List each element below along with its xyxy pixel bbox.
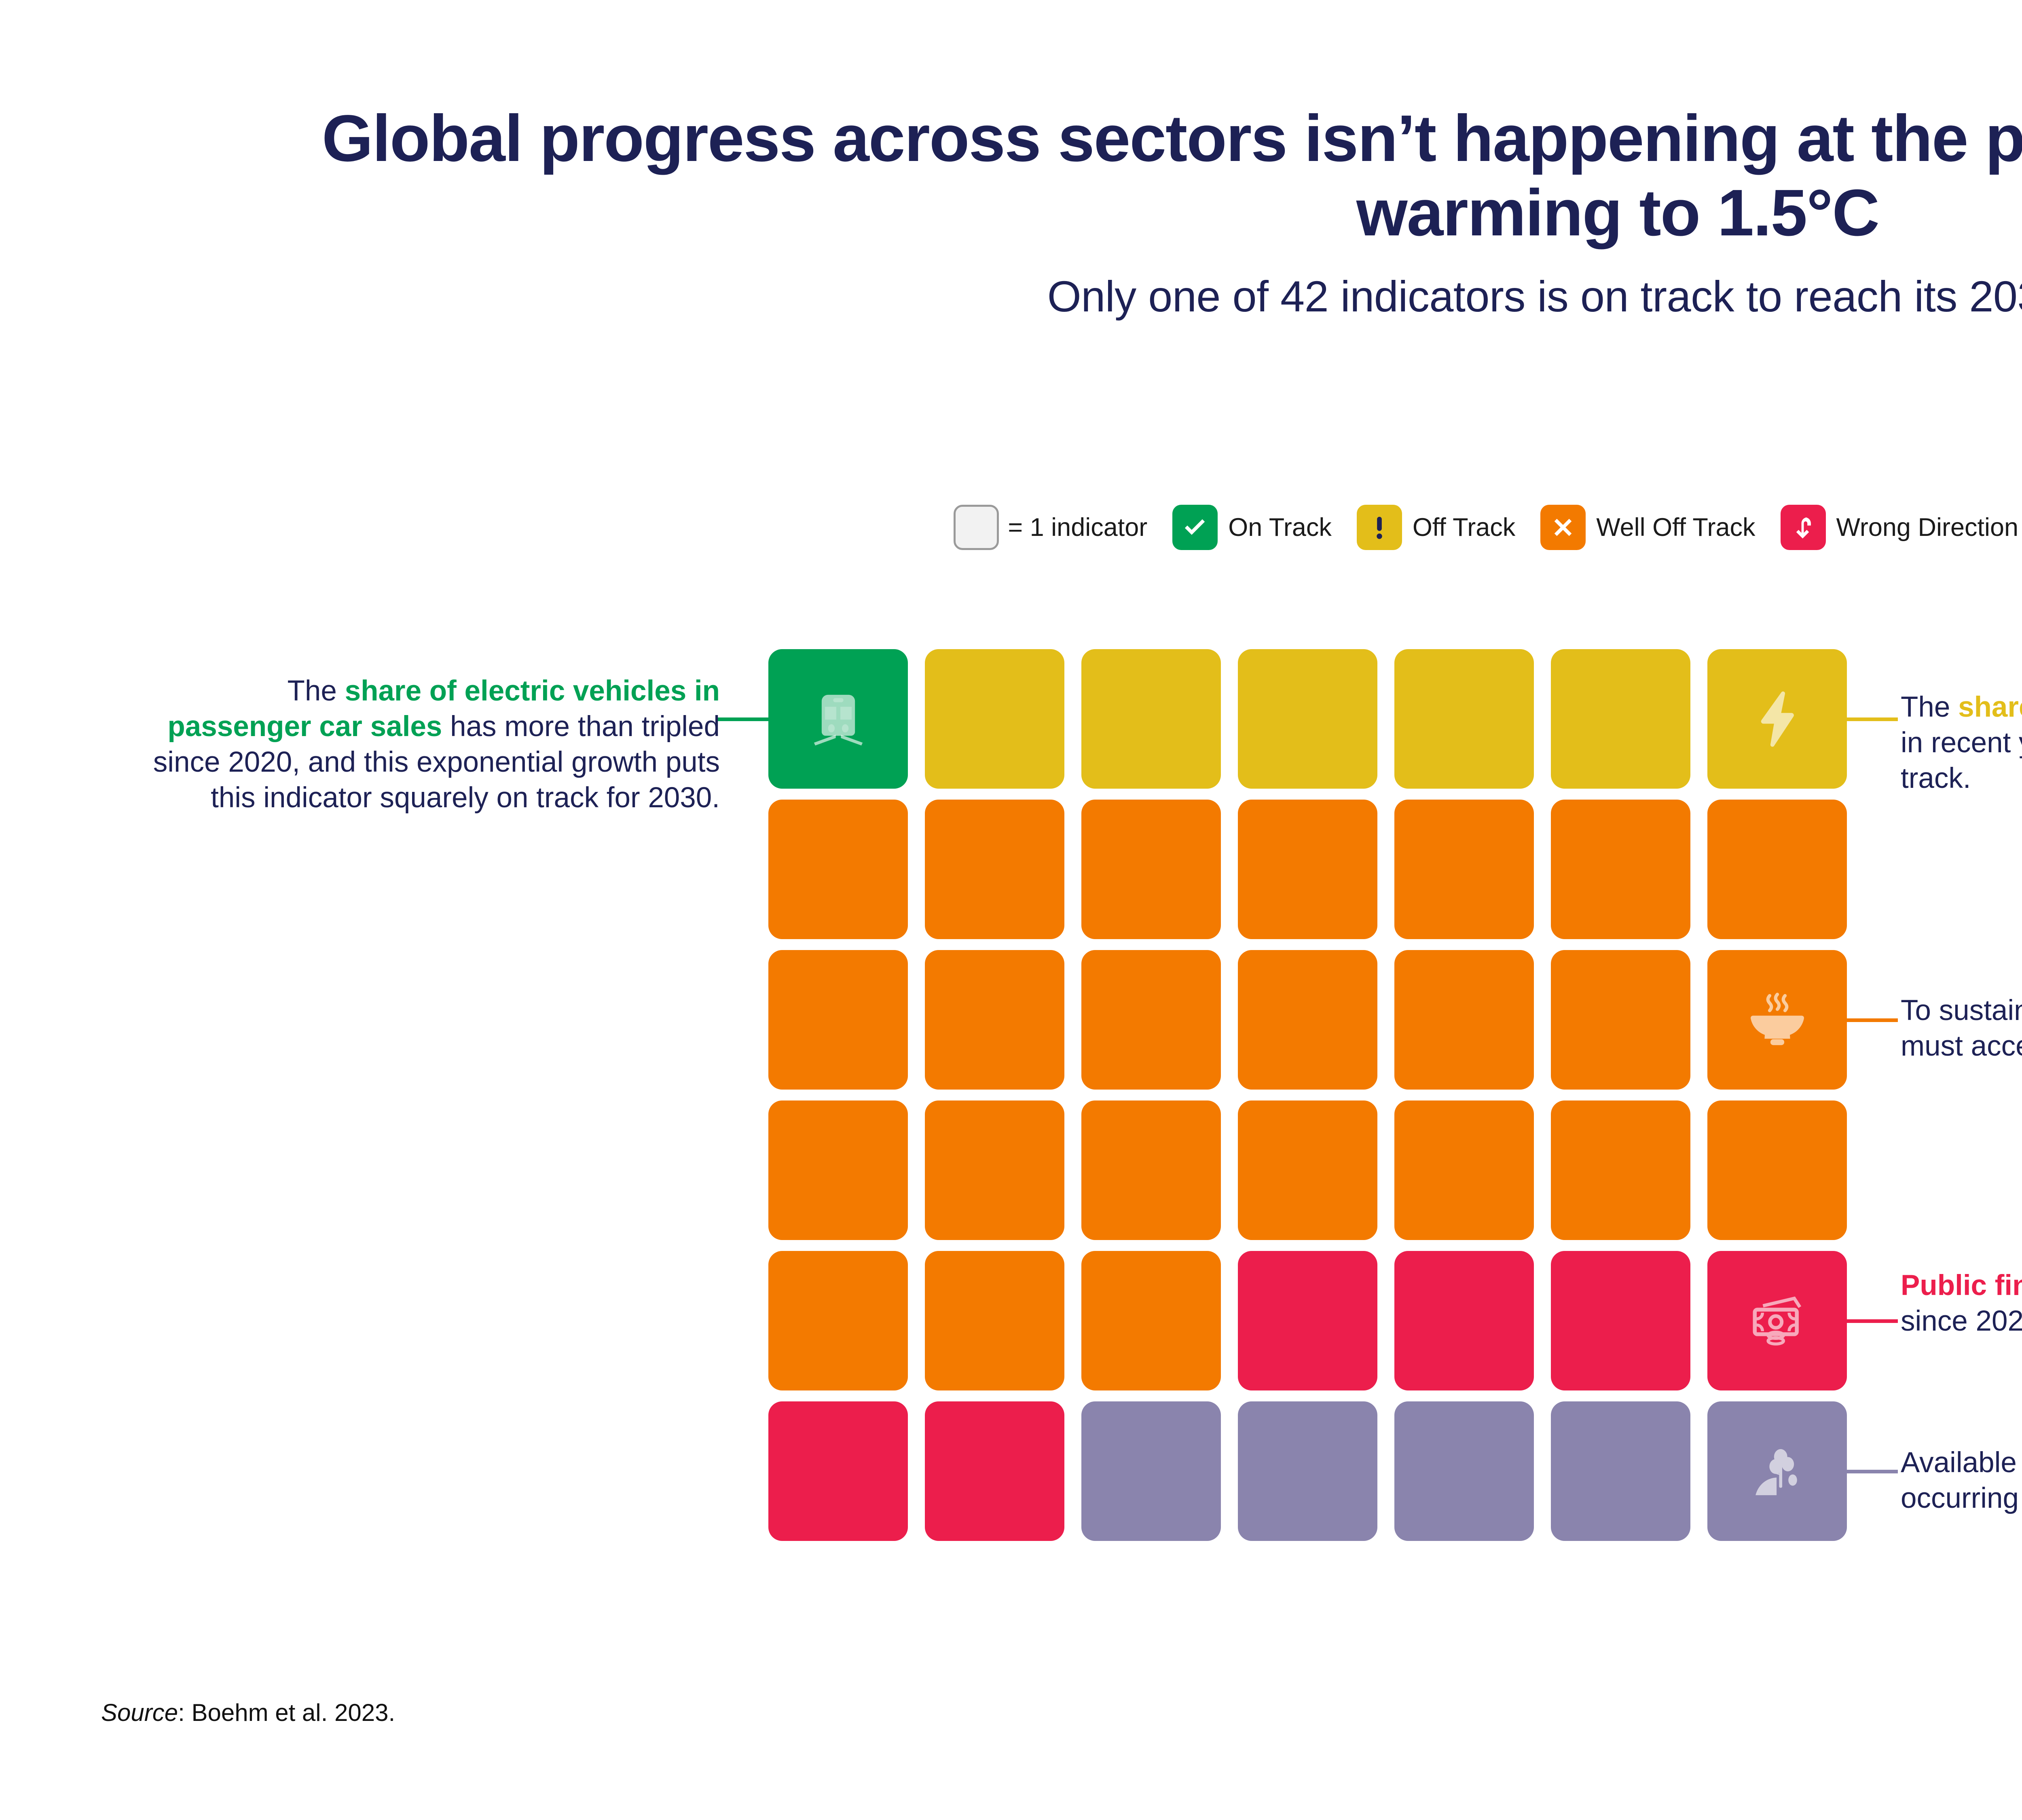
indicator-cell-well-off-track[interactable] [1081, 1100, 1221, 1240]
indicator-cell-insufficient-data[interactable] [1081, 1401, 1221, 1541]
connector-line [1847, 1319, 1898, 1323]
indicator-cell-train[interactable] [768, 649, 908, 789]
indicator-cell-well-off-track[interactable] [1707, 800, 1847, 939]
grid-row [768, 1251, 1852, 1390]
indicator-cell-well-off-track[interactable] [1238, 950, 1377, 1090]
annotation-crop-yields: To sustainably feed a growing population… [1901, 993, 2022, 1064]
legend-item-on-track: On Track [1172, 505, 1332, 550]
indicator-cell-well-off-track[interactable] [768, 1251, 908, 1390]
indicator-cell-well-off-track[interactable] [1551, 1100, 1690, 1240]
indicator-cell-insufficient-data[interactable] [1394, 1401, 1534, 1541]
indicator-cell-well-off-track[interactable] [1394, 1100, 1534, 1240]
indicator-cell-lightning[interactable] [1707, 649, 1847, 789]
anno-pre: To sustainably feed a growing population… [1901, 995, 2022, 1026]
grid-row [768, 649, 1852, 789]
indicator-cell-well-off-track[interactable] [925, 1100, 1064, 1240]
indicator-cell-off-track[interactable] [1238, 649, 1377, 789]
indicator-cell-wrong-direction[interactable] [1394, 1251, 1534, 1390]
anno-highlight: Public financing for fossil fuels [1901, 1270, 2022, 1302]
indicator-cell-off-track[interactable] [925, 649, 1064, 789]
anno-post: must accelerate more than 10 times faste… [1901, 1030, 2022, 1062]
indicator-cell-well-off-track[interactable] [1551, 800, 1690, 939]
indicator-cell-wrong-direction[interactable] [768, 1401, 908, 1541]
source-label: Source [101, 1699, 178, 1726]
indicator-cell-off-track[interactable] [1394, 649, 1534, 789]
indicator-cell-well-off-track[interactable] [1394, 950, 1534, 1090]
legend-label: On Track [1228, 513, 1332, 542]
annotation-solar-wind: The share of solar and wind in electrici… [1901, 690, 2022, 796]
legend-label: = 1 indicator [1008, 513, 1147, 542]
u-turn-arrow-icon [1781, 505, 1826, 550]
header: Global progress across sectors isn’t hap… [0, 101, 2022, 322]
indicator-cell-well-off-track[interactable] [1238, 800, 1377, 939]
empty-square-icon [954, 505, 999, 550]
grid-row [768, 1401, 1852, 1541]
indicator-cell-off-track[interactable] [1081, 649, 1221, 789]
legend-label: Wrong Direction [1836, 513, 2019, 542]
annotation-peatland: Available evidence in Russia, Germany an… [1901, 1445, 2022, 1516]
indicator-cell-well-off-track[interactable] [1238, 1100, 1377, 1240]
indicator-cell-well-off-track[interactable] [925, 1251, 1064, 1390]
exclamation-icon [1357, 505, 1402, 550]
grid-row [768, 1100, 1852, 1240]
legend: = 1 indicatorOn TrackOff TrackWell Off T… [0, 505, 2022, 550]
indicator-cell-off-track[interactable] [1551, 649, 1690, 789]
indicator-grid [768, 649, 1852, 1541]
grid-row [768, 950, 1852, 1090]
source-note: Source: Boehm et al. 2023. [101, 1699, 395, 1727]
indicator-cell-wrong-direction[interactable] [1238, 1251, 1377, 1390]
anno-pre: The [1901, 691, 1958, 723]
indicator-cell-insufficient-data[interactable] [1551, 1401, 1690, 1541]
connector-line [1847, 717, 1898, 721]
x-icon [1540, 505, 1586, 550]
indicator-cell-well-off-track[interactable] [1551, 950, 1690, 1090]
indicator-cell-well-off-track[interactable] [1394, 800, 1534, 939]
check-icon [1172, 505, 1218, 550]
connector-line [1847, 1018, 1898, 1022]
anno-pre: Available evidence in Russia, Germany an… [1901, 1447, 2022, 1479]
infographic-page: Global progress across sectors isn’t hap… [0, 0, 2022, 1820]
indicator-cell-well-off-track[interactable] [1081, 1251, 1221, 1390]
anno-pre: The [288, 675, 345, 707]
page-subtitle: Only one of 42 indicators is on track to… [0, 271, 2022, 322]
indicator-cell-well-off-track[interactable] [768, 950, 908, 1090]
indicator-cell-wrong-direction[interactable] [1551, 1251, 1690, 1390]
legend-item-well-off-track: Well Off Track [1540, 505, 1755, 550]
legend-item-1-indicator: = 1 indicator [954, 505, 1147, 550]
annotation-fossil-fuels: Public financing for fossil fuels is now… [1901, 1268, 2022, 1339]
indicator-cell-well-off-track[interactable] [768, 800, 908, 939]
source-text: : Boehm et al. 2023. [178, 1699, 395, 1726]
indicator-cell-well-off-track[interactable] [1081, 800, 1221, 939]
connector-line [1847, 1470, 1898, 1473]
indicator-cell-well-off-track[interactable] [1707, 1100, 1847, 1240]
grid-row [768, 800, 1852, 939]
indicator-cell-well-off-track[interactable] [768, 1100, 908, 1240]
connector-line [717, 717, 768, 721]
indicator-cell-wrong-direction[interactable] [925, 1401, 1064, 1541]
indicator-cell-food-bowl[interactable] [1707, 950, 1847, 1090]
indicator-cell-peatland[interactable] [1707, 1401, 1847, 1541]
legend-item-wrong-direction: Wrong Direction [1781, 505, 2019, 550]
legend-item-off-track: Off Track [1357, 505, 1515, 550]
page-title: Global progress across sectors isn’t hap… [0, 101, 2022, 250]
indicator-cell-well-off-track[interactable] [925, 800, 1064, 939]
annotation-electric-vehicles: The share of electric vehicles in passen… [146, 673, 720, 816]
anno-highlight: share of solar and wind in electricity g… [1958, 691, 2022, 723]
legend-label: Well Off Track [1596, 513, 1755, 542]
indicator-cell-insufficient-data[interactable] [1238, 1401, 1377, 1541]
indicator-cell-well-off-track[interactable] [925, 950, 1064, 1090]
indicator-cell-money[interactable] [1707, 1251, 1847, 1390]
indicator-cell-well-off-track[interactable] [1081, 950, 1221, 1090]
legend-label: Off Track [1413, 513, 1515, 542]
